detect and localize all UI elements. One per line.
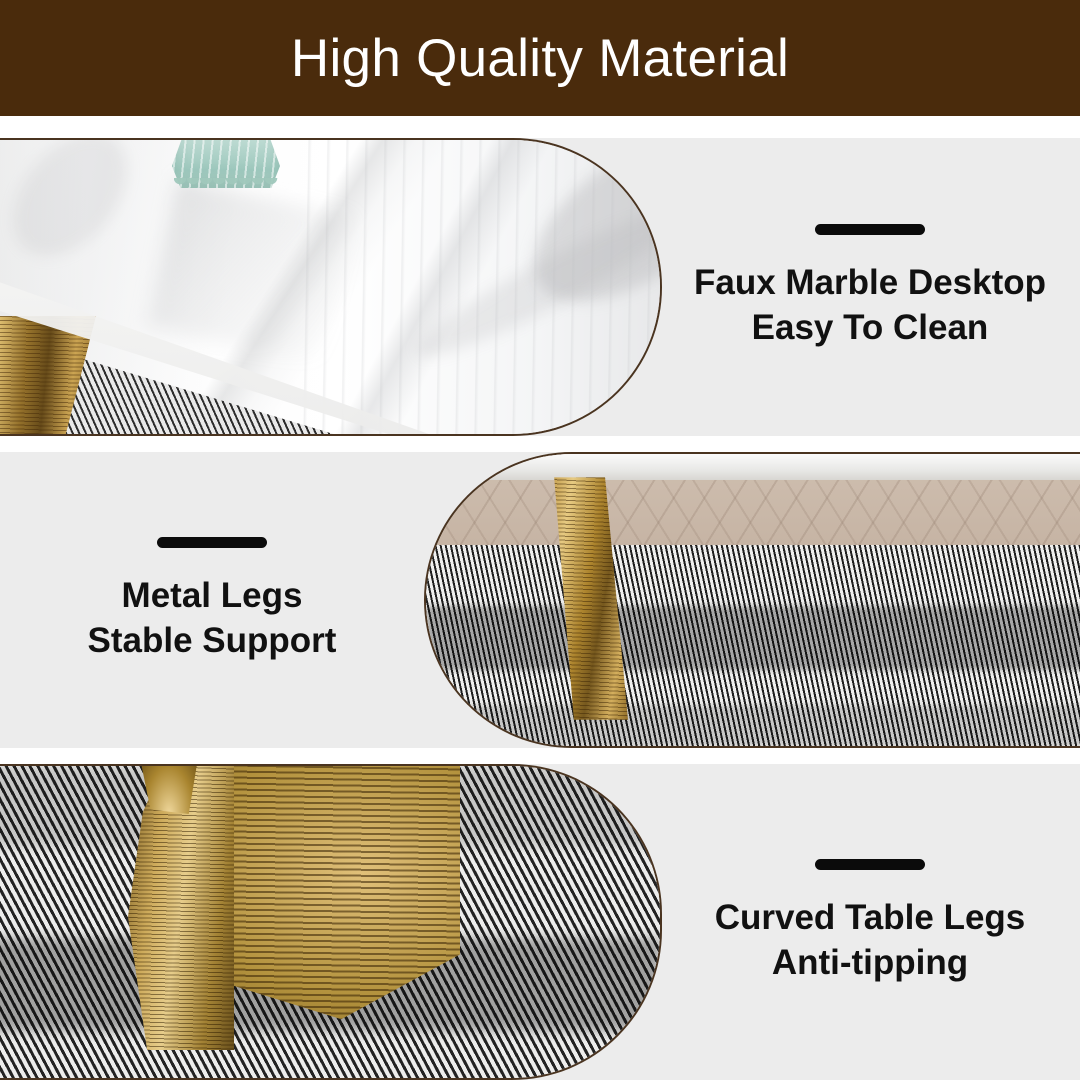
feature-panel-metal-legs: Metal Legs Stable Support <box>0 452 1080 748</box>
feature-text-faux-marble-desktop: Faux Marble Desktop Easy To Clean <box>660 138 1080 436</box>
rug-shadow <box>426 705 1080 746</box>
feature-heading-line-1: Faux Marble Desktop <box>694 261 1046 306</box>
feature-panel-curved-table-legs: Curved Table Legs Anti-tipping <box>0 764 1080 1080</box>
feature-heading-line-2: Easy To Clean <box>694 306 1046 351</box>
page-title: High Quality Material <box>291 32 789 85</box>
feature-heading-line-1: Curved Table Legs <box>715 896 1026 941</box>
feature-image-curved-table-legs <box>0 764 662 1080</box>
table-top-edge <box>426 454 1080 480</box>
feature-heading-line-2: Anti-tipping <box>715 941 1026 986</box>
vase-scalloped-base <box>174 178 278 194</box>
feature-text-curved-table-legs: Curved Table Legs Anti-tipping <box>660 764 1080 1080</box>
curtain-backdrop <box>293 140 660 434</box>
feature-image-faux-marble-desktop <box>0 138 662 436</box>
feature-image-metal-legs <box>424 452 1080 748</box>
feature-heading-line-2: Stable Support <box>88 619 337 664</box>
glass-vase <box>172 138 280 206</box>
feature-text-metal-legs: Metal Legs Stable Support <box>0 452 424 748</box>
rug-shadow <box>426 606 1080 670</box>
header-banner: High Quality Material <box>0 0 1080 116</box>
accent-dash-icon <box>815 224 925 235</box>
feature-panel-faux-marble-desktop: Faux Marble Desktop Easy To Clean <box>0 138 1080 436</box>
feature-heading-line-1: Metal Legs <box>88 574 337 619</box>
accent-dash-icon <box>157 537 267 548</box>
accent-dash-icon <box>815 859 925 870</box>
feature-heading: Metal Legs Stable Support <box>88 574 337 664</box>
feature-heading: Faux Marble Desktop Easy To Clean <box>694 261 1046 351</box>
product-infographic-page: High Quality Material Faux Marble Desk <box>0 0 1080 1080</box>
feature-heading: Curved Table Legs Anti-tipping <box>715 896 1026 986</box>
